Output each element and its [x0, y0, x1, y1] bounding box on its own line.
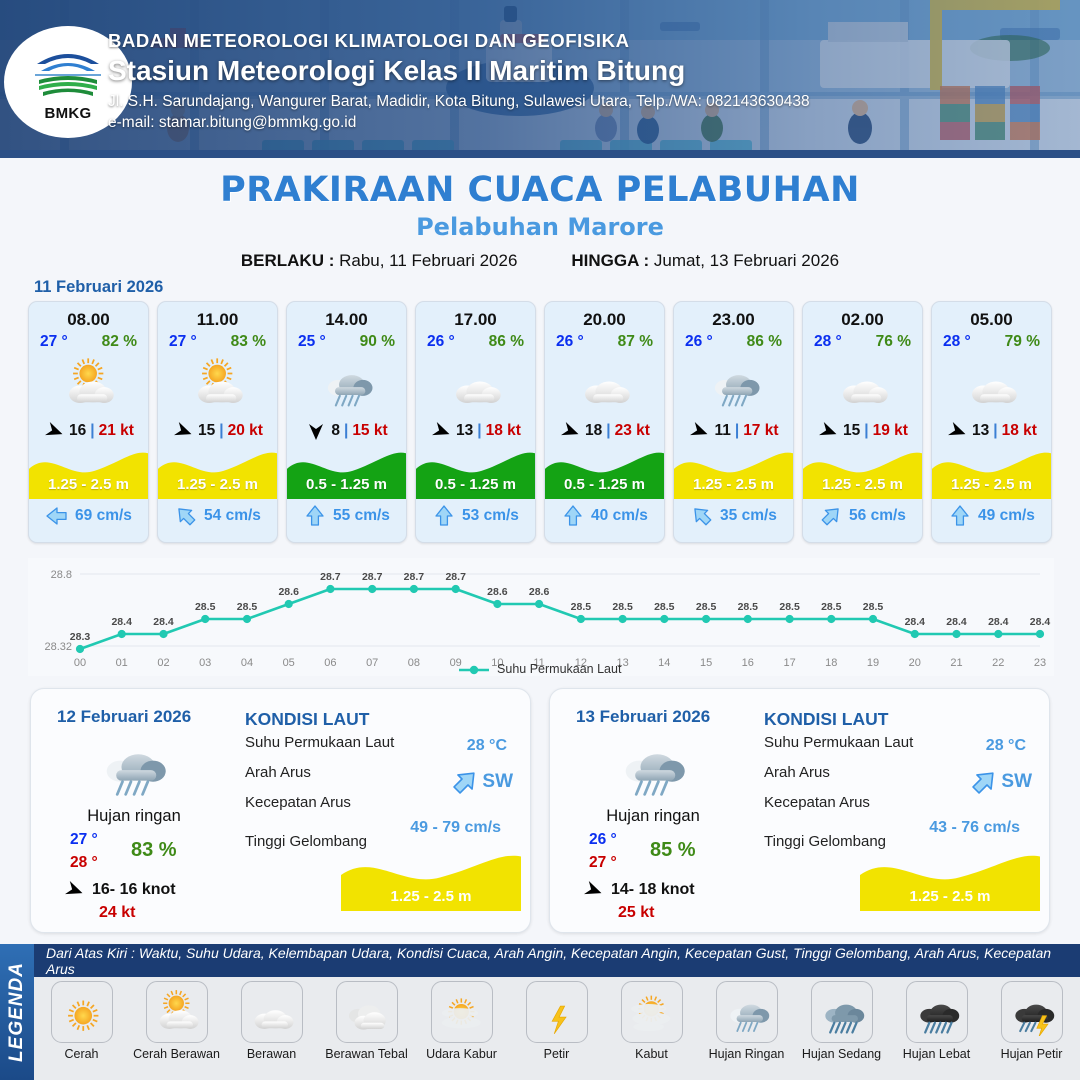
- chart-value-label: 28.4: [153, 616, 174, 628]
- daily-forecast-row: 12 Februari 2026 Hujan ringan 27 ° 28 ° …: [30, 688, 1050, 933]
- daily-wind: 16- 16 knot: [92, 881, 176, 899]
- legend-item-label: Hujan Sedang: [802, 1048, 881, 1062]
- wind-direction-icon: [582, 879, 604, 901]
- hourly-card[interactable]: 20.00 26 ° 87 % 18 | 23 kt 0.5 - 1.25 m …: [544, 301, 665, 543]
- card-wave: 1.25 - 2.5 m: [803, 447, 922, 499]
- legend-icon-box: [51, 981, 113, 1043]
- card-time: 02.00: [803, 302, 922, 330]
- hujan-sedang-icon: [815, 988, 869, 1037]
- chart-y-tick-bottom: 28.32: [44, 641, 72, 653]
- daily-gust: 24 kt: [99, 904, 135, 922]
- chart-value-label: 28.5: [696, 601, 717, 613]
- chart-point: [493, 600, 501, 608]
- chart-point: [159, 630, 167, 638]
- chart-legend-label: Suhu Permukaan Laut: [497, 662, 621, 676]
- hourly-card[interactable]: 08.00 27 ° 82 % 16 | 21 kt 1.25 - 2.5 m …: [28, 301, 149, 543]
- daily-gust: 25 kt: [618, 904, 654, 922]
- chart-y-tick-top: 28.8: [51, 569, 72, 581]
- daily-temp-max: 28 °: [70, 854, 98, 872]
- chart-value-label: 28.7: [320, 571, 341, 583]
- legend-item: Udara Kabur: [414, 977, 509, 1080]
- legend-item: Hujan Sedang: [794, 977, 889, 1080]
- hourly-card[interactable]: 17.00 26 ° 86 % 13 | 18 kt 0.5 - 1.25 m …: [415, 301, 536, 543]
- chart-point: [786, 615, 794, 623]
- legend-side-label: LEGENDA: [0, 944, 34, 1080]
- card-wind-separator: |: [219, 422, 223, 440]
- card-current-row: 53 cm/s: [416, 499, 535, 533]
- legend-item-label: Cerah Berawan: [133, 1048, 220, 1062]
- card-temp-hum: 28 ° 76 %: [803, 330, 922, 351]
- value-current-direction: SW: [1001, 771, 1032, 793]
- card-current-speed: 35 cm/s: [720, 507, 777, 525]
- chart-value-label: 28.6: [487, 586, 508, 598]
- current-direction-icon: [450, 767, 480, 797]
- hourly-card[interactable]: 23.00 26 ° 86 % 11 | 17 kt 1.25 - 2.5 m …: [673, 301, 794, 543]
- berawan-icon: [961, 356, 1023, 412]
- chart-value-label: 28.5: [654, 601, 675, 613]
- legend-item: Berawan Tebal: [319, 977, 414, 1080]
- chart-value-label: 28.7: [404, 571, 425, 583]
- legend-item-label: Hujan Petir: [1001, 1048, 1063, 1062]
- berawan-icon: [574, 356, 636, 412]
- card-wind-separator: |: [606, 422, 610, 440]
- card-humidity: 82 %: [102, 333, 137, 351]
- valid-until-value: Jumat, 13 Februari 2026: [654, 251, 839, 270]
- card-temperature: 27 °: [40, 333, 68, 351]
- chart-point: [535, 600, 543, 608]
- legend-footer: LEGENDA Dari Atas Kiri : Waktu, Suhu Uda…: [0, 944, 1080, 1080]
- legend-icon-box: [431, 981, 493, 1043]
- page-title: PRAKIRAAN CUACA PELABUHAN: [0, 170, 1080, 210]
- chart-value-label: 28.5: [738, 601, 759, 613]
- value-current-speed: 49 - 79 cm/s: [410, 819, 501, 837]
- chart-value-label: 28.3: [70, 631, 91, 643]
- value-wave-graphic: 1.25 - 2.5 m: [860, 849, 1040, 911]
- legend-icon-row: Cerah Cerah Berawan Berawan Berawan Teba…: [34, 977, 1080, 1080]
- hourly-card[interactable]: 14.00 25 ° 90 % 8 | 15 kt 0.5 - 1.25 m 5…: [286, 301, 407, 543]
- card-time: 08.00: [29, 302, 148, 330]
- legend-item: Petir: [509, 977, 604, 1080]
- valid-from-value: Rabu, 11 Februari 2026: [339, 251, 517, 270]
- card-wind-row: 15 | 19 kt: [803, 416, 922, 446]
- card-wave: 1.25 - 2.5 m: [932, 447, 1051, 499]
- card-wind-speed: 15: [843, 422, 860, 440]
- card-weather-icon: [158, 353, 277, 415]
- card-time: 14.00: [287, 302, 406, 330]
- header-text-block: BADAN METEOROLOGI KLIMATOLOGI DAN GEOFIS…: [108, 30, 1068, 132]
- daily-condition: Hujan ringan: [54, 807, 214, 826]
- daily-wind-row: 16- 16 knot: [63, 879, 176, 901]
- chart-point: [994, 630, 1002, 638]
- current-direction-icon: [819, 504, 843, 528]
- valid-from: BERLAKU : Rabu, 11 Februari 2026: [241, 251, 518, 271]
- legend-item-label: Hujan Ringan: [709, 1048, 785, 1062]
- legend-side-text: LEGENDA: [6, 962, 28, 1062]
- chart-point: [744, 615, 752, 623]
- card-wave-height: 0.5 - 1.25 m: [545, 476, 664, 493]
- station-email: e-mail: stamar.bitung@bmmkg.go.id: [108, 114, 1068, 132]
- card-current-speed: 56 cm/s: [849, 507, 906, 525]
- current-direction-icon: [45, 504, 69, 528]
- cerah-icon: [55, 988, 109, 1037]
- value-current-direction: SW: [482, 771, 513, 793]
- card-current-row: 56 cm/s: [803, 499, 922, 533]
- legend-item-label: Udara Kabur: [426, 1048, 497, 1062]
- current-direction-icon: [174, 504, 198, 528]
- legend-item: Hujan Ringan: [699, 977, 794, 1080]
- value-sst: 28 °C: [986, 737, 1026, 755]
- card-gust: 21 kt: [99, 422, 134, 440]
- chart-point: [619, 615, 627, 623]
- chart-value-label: 28.7: [362, 571, 383, 583]
- wind-direction-icon: [817, 420, 839, 442]
- value-current-speed: 43 - 76 cm/s: [929, 819, 1020, 837]
- daily-forecast-panel[interactable]: 12 Februari 2026 Hujan ringan 27 ° 28 ° …: [30, 688, 531, 933]
- card-temp-hum: 25 ° 90 %: [287, 330, 406, 351]
- card-current-speed: 54 cm/s: [204, 507, 261, 525]
- card-gust: 15 kt: [352, 422, 387, 440]
- legend-note: Dari Atas Kiri : Waktu, Suhu Udara, Kele…: [46, 945, 1080, 977]
- wind-direction-icon: [430, 420, 452, 442]
- daily-temp-min: 27 °: [70, 831, 98, 849]
- chart-value-label: 28.5: [863, 601, 884, 613]
- chart-point: [326, 585, 334, 593]
- card-current-row: 49 cm/s: [932, 499, 1051, 533]
- udara-kabur-icon: [435, 988, 489, 1037]
- card-wind-row: 11 | 17 kt: [674, 416, 793, 446]
- berawan-icon: [832, 356, 894, 412]
- legend-icon-box: [811, 981, 873, 1043]
- chart-point: [243, 615, 251, 623]
- chart-point: [410, 585, 418, 593]
- value-wave-height: 1.25 - 2.5 m: [341, 888, 521, 905]
- legend-item-label: Petir: [544, 1048, 570, 1062]
- card-current-row: 55 cm/s: [287, 499, 406, 533]
- card-time: 17.00: [416, 302, 535, 330]
- card-current-speed: 40 cm/s: [591, 507, 648, 525]
- legend-item-label: Kabut: [635, 1048, 668, 1062]
- card-wave: 1.25 - 2.5 m: [674, 447, 793, 499]
- legend-icon-box: [241, 981, 303, 1043]
- card-current-row: 54 cm/s: [158, 499, 277, 533]
- card-wind-speed: 13: [972, 422, 989, 440]
- card-wave: 0.5 - 1.25 m: [545, 447, 664, 499]
- card-temperature: 26 °: [556, 333, 584, 351]
- validity-range: BERLAKU : Rabu, 11 Februari 2026 HINGGA …: [0, 251, 1080, 271]
- card-wind-separator: |: [90, 422, 94, 440]
- sst-chart: 28.8 28.32 28.328.428.428.528.528.628.72…: [28, 558, 1054, 676]
- chart-point: [76, 645, 84, 653]
- hujan-lebat-icon: [910, 988, 964, 1037]
- daily-date: 13 Februari 2026: [576, 707, 710, 727]
- legend-item: Cerah: [34, 977, 129, 1080]
- card-wave-height: 1.25 - 2.5 m: [29, 476, 148, 493]
- chart-value-label: 28.5: [237, 601, 258, 613]
- chart-point: [702, 615, 710, 623]
- chart-point: [911, 630, 919, 638]
- wind-direction-icon: [688, 420, 710, 442]
- card-current-speed: 69 cm/s: [75, 507, 132, 525]
- legend-icon-box: [716, 981, 778, 1043]
- card-humidity: 83 %: [231, 333, 266, 351]
- chart-point: [452, 585, 460, 593]
- kabut-icon: [625, 988, 679, 1037]
- legend-line-marker: [459, 664, 489, 676]
- bmkg-logo-mark: [29, 42, 107, 104]
- daily-condition: Hujan ringan: [573, 807, 733, 826]
- card-wind-row: 13 | 18 kt: [416, 416, 535, 446]
- card-wind-row: 13 | 18 kt: [932, 416, 1051, 446]
- legend-item: Berawan: [224, 977, 319, 1080]
- legend-item: Hujan Lebat: [889, 977, 984, 1080]
- card-gust: 18 kt: [486, 422, 521, 440]
- chart-value-label: 28.5: [195, 601, 216, 613]
- chart-value-label: 28.5: [779, 601, 800, 613]
- daily-wind-row: 14- 18 knot: [582, 879, 695, 901]
- daily-humidity: 83 %: [131, 839, 177, 862]
- wind-direction-icon: [305, 420, 327, 442]
- card-weather-icon: [545, 353, 664, 415]
- legend-note-bar: Dari Atas Kiri : Waktu, Suhu Udara, Kele…: [34, 944, 1080, 977]
- hourly-card[interactable]: 02.00 28 ° 76 % 15 | 19 kt 1.25 - 2.5 m …: [802, 301, 923, 543]
- sea-conditions-title: KONDISI LAUT: [764, 709, 1036, 730]
- hujan-ringan-icon: [610, 729, 692, 803]
- card-wind-separator: |: [344, 422, 348, 440]
- current-direction-icon: [561, 504, 585, 528]
- card-wave-height: 1.25 - 2.5 m: [932, 476, 1051, 493]
- card-temp-hum: 26 ° 86 %: [416, 330, 535, 351]
- card-weather-icon: [803, 353, 922, 415]
- legend-icon-box: [906, 981, 968, 1043]
- chart-point: [952, 630, 960, 638]
- chart-value-label: 28.4: [111, 616, 132, 628]
- card-wave-height: 0.5 - 1.25 m: [287, 476, 406, 493]
- card-wave-height: 1.25 - 2.5 m: [674, 476, 793, 493]
- chart-point: [577, 615, 585, 623]
- card-temperature: 27 °: [169, 333, 197, 351]
- card-wind-speed: 11: [714, 422, 730, 440]
- berawan-tebal-icon: [340, 988, 394, 1037]
- hujan-ringan-icon: [703, 356, 765, 412]
- chart-value-label: 28.4: [988, 616, 1009, 628]
- chart-value-label: 28.5: [571, 601, 592, 613]
- cerah-berawan-icon: [150, 988, 204, 1037]
- card-temp-hum: 26 ° 86 %: [674, 330, 793, 351]
- current-direction-icon: [690, 504, 714, 528]
- card-current-speed: 55 cm/s: [333, 507, 390, 525]
- card-wave-height: 1.25 - 2.5 m: [803, 476, 922, 493]
- card-humidity: 90 %: [360, 333, 395, 351]
- hujan-ringan-icon: [316, 356, 378, 412]
- card-wind-speed: 18: [585, 422, 602, 440]
- card-wave-height: 0.5 - 1.25 m: [416, 476, 535, 493]
- chart-value-label: 28.6: [529, 586, 550, 598]
- daily-sea-conditions: KONDISI LAUT Suhu Permukaan Laut Arah Ar…: [764, 709, 1036, 850]
- current-direction-icon: [948, 504, 972, 528]
- chart-value-label: 28.4: [905, 616, 926, 628]
- legend-item-label: Hujan Lebat: [903, 1048, 970, 1062]
- card-weather-icon: [29, 353, 148, 415]
- header-bottom-bar: [0, 150, 1080, 158]
- current-direction-icon: [303, 504, 327, 528]
- hourly-forecast-row: 08.00 27 ° 82 % 16 | 21 kt 1.25 - 2.5 m …: [28, 301, 1054, 543]
- legend-item-label: Berawan Tebal: [325, 1048, 407, 1062]
- wind-direction-icon: [63, 879, 85, 901]
- bmkg-logo-text: BMKG: [44, 105, 91, 122]
- chart-value-label: 28.4: [1030, 616, 1051, 628]
- daily-temp-min: 26 °: [589, 831, 617, 849]
- card-humidity: 76 %: [876, 333, 911, 351]
- card-wind-separator: |: [735, 422, 739, 440]
- card-wave: 1.25 - 2.5 m: [158, 447, 277, 499]
- card-humidity: 79 %: [1005, 333, 1040, 351]
- chart-value-label: 28.4: [946, 616, 967, 628]
- card-wind-row: 8 | 15 kt: [287, 416, 406, 446]
- legend-icon-box: [146, 981, 208, 1043]
- daily-weather-icon: [610, 729, 692, 808]
- station-name: Stasiun Meteorologi Kelas II Maritim Bit…: [108, 55, 1068, 87]
- card-temperature: 26 °: [427, 333, 455, 351]
- chart-point: [201, 615, 209, 623]
- legend-item: Cerah Berawan: [129, 977, 224, 1080]
- card-weather-icon: [287, 353, 406, 415]
- daily-humidity: 85 %: [650, 839, 696, 862]
- valid-until: HINGGA : Jumat, 13 Februari 2026: [571, 251, 839, 271]
- card-weather-icon: [416, 353, 535, 415]
- cerah-berawan-icon: [58, 356, 120, 412]
- legend-item: Hujan Petir: [984, 977, 1079, 1080]
- card-time: 20.00: [545, 302, 664, 330]
- chart-value-label: 28.5: [612, 601, 633, 613]
- card-temperature: 26 °: [685, 333, 713, 351]
- legend-item-label: Berawan: [247, 1048, 296, 1062]
- card-current-speed: 49 cm/s: [978, 507, 1035, 525]
- berawan-icon: [445, 356, 507, 412]
- agency-name: BADAN METEOROLOGI KLIMATOLOGI DAN GEOFIS…: [108, 30, 1068, 52]
- card-wind-speed: 15: [198, 422, 215, 440]
- chart-point: [118, 630, 126, 638]
- card-gust: 20 kt: [228, 422, 263, 440]
- value-wave-graphic: 1.25 - 2.5 m: [341, 849, 521, 911]
- valid-from-label: BERLAKU :: [241, 251, 335, 270]
- chart-point: [368, 585, 376, 593]
- card-temperature: 25 °: [298, 333, 326, 351]
- card-wave: 0.5 - 1.25 m: [416, 447, 535, 499]
- legend-icon-box: [526, 981, 588, 1043]
- card-weather-icon: [674, 353, 793, 415]
- chart-value-label: 28.5: [821, 601, 842, 613]
- hujan-ringan-icon: [720, 988, 774, 1037]
- card-wave: 1.25 - 2.5 m: [29, 447, 148, 499]
- card-current-row: 69 cm/s: [29, 499, 148, 533]
- petir-icon: [530, 988, 584, 1037]
- page-subtitle: Pelabuhan Marore: [0, 213, 1080, 241]
- daily-sea-conditions: KONDISI LAUT Suhu Permukaan Laut Arah Ar…: [245, 709, 517, 850]
- card-current-row: 40 cm/s: [545, 499, 664, 533]
- chart-value-label: 28.7: [445, 571, 466, 583]
- card-gust: 17 kt: [743, 422, 778, 440]
- legend-item: Kabut: [604, 977, 699, 1080]
- card-temp-hum: 27 ° 82 %: [29, 330, 148, 351]
- cerah-berawan-icon: [187, 356, 249, 412]
- legend-item-label: Cerah: [64, 1048, 98, 1062]
- current-direction-icon: [969, 767, 999, 797]
- legend-icon-box: [1001, 981, 1063, 1043]
- card-wind-row: 15 | 20 kt: [158, 416, 277, 446]
- card-gust: 19 kt: [873, 422, 908, 440]
- daily-forecast-panel[interactable]: 13 Februari 2026 Hujan ringan 26 ° 27 ° …: [549, 688, 1050, 933]
- valid-until-label: HINGGA :: [571, 251, 649, 270]
- card-time: 05.00: [932, 302, 1051, 330]
- wind-direction-icon: [946, 420, 968, 442]
- chart-point: [285, 600, 293, 608]
- daily-wind: 14- 18 knot: [611, 881, 695, 899]
- card-humidity: 86 %: [747, 333, 782, 351]
- card-wind-speed: 16: [69, 422, 86, 440]
- value-current-direction-group: SW: [450, 767, 513, 797]
- hujan-petir-icon: [1005, 988, 1059, 1037]
- sea-conditions-title: KONDISI LAUT: [245, 709, 517, 730]
- current-direction-icon: [432, 504, 456, 528]
- chart-point: [827, 615, 835, 623]
- card-wave: 0.5 - 1.25 m: [287, 447, 406, 499]
- card-wind-row: 18 | 23 kt: [545, 416, 664, 446]
- hourly-card[interactable]: 11.00 27 ° 83 % 15 | 20 kt 1.25 - 2.5 m …: [157, 301, 278, 543]
- card-temperature: 28 °: [943, 333, 971, 351]
- card-time: 23.00: [674, 302, 793, 330]
- card-temperature: 28 °: [814, 333, 842, 351]
- card-wind-separator: |: [864, 422, 868, 440]
- chart-point: [660, 615, 668, 623]
- wind-direction-icon: [559, 420, 581, 442]
- card-gust: 18 kt: [1002, 422, 1037, 440]
- card-time: 11.00: [158, 302, 277, 330]
- card-wind-speed: 8: [331, 422, 340, 440]
- value-current-direction-group: SW: [969, 767, 1032, 797]
- daily-date: 12 Februari 2026: [57, 707, 191, 727]
- card-wind-row: 16 | 21 kt: [29, 416, 148, 446]
- value-sst: 28 °C: [467, 737, 507, 755]
- card-wind-separator: |: [477, 422, 481, 440]
- card-humidity: 86 %: [489, 333, 524, 351]
- card-current-row: 35 cm/s: [674, 499, 793, 533]
- value-wave-height: 1.25 - 2.5 m: [860, 888, 1040, 905]
- station-address: Jl. S.H. Sarundajang, Wangurer Barat, Ma…: [108, 93, 1068, 111]
- card-current-speed: 53 cm/s: [462, 507, 519, 525]
- card-wind-separator: |: [993, 422, 997, 440]
- daily-weather-icon: [91, 729, 173, 808]
- chart-point: [1036, 630, 1044, 638]
- card-temp-hum: 28 ° 79 %: [932, 330, 1051, 351]
- wind-direction-icon: [43, 420, 65, 442]
- card-wind-speed: 13: [456, 422, 473, 440]
- chart-point: [869, 615, 877, 623]
- chart-legend: Suhu Permukaan Laut: [0, 662, 1080, 676]
- legend-icon-box: [336, 981, 398, 1043]
- card-wave-height: 1.25 - 2.5 m: [158, 476, 277, 493]
- card-temp-hum: 26 ° 87 %: [545, 330, 664, 351]
- hourly-date-label: 11 Februari 2026: [34, 278, 163, 297]
- legend-icon-box: [621, 981, 683, 1043]
- page-title-block: PRAKIRAAN CUACA PELABUHAN Pelabuhan Maro…: [0, 158, 1080, 271]
- hujan-ringan-icon: [91, 729, 173, 803]
- hourly-card[interactable]: 05.00 28 ° 79 % 13 | 18 kt 1.25 - 2.5 m …: [931, 301, 1052, 543]
- berawan-icon: [245, 988, 299, 1037]
- card-gust: 23 kt: [615, 422, 650, 440]
- card-temp-hum: 27 ° 83 %: [158, 330, 277, 351]
- card-humidity: 87 %: [618, 333, 653, 351]
- chart-value-label: 28.6: [278, 586, 299, 598]
